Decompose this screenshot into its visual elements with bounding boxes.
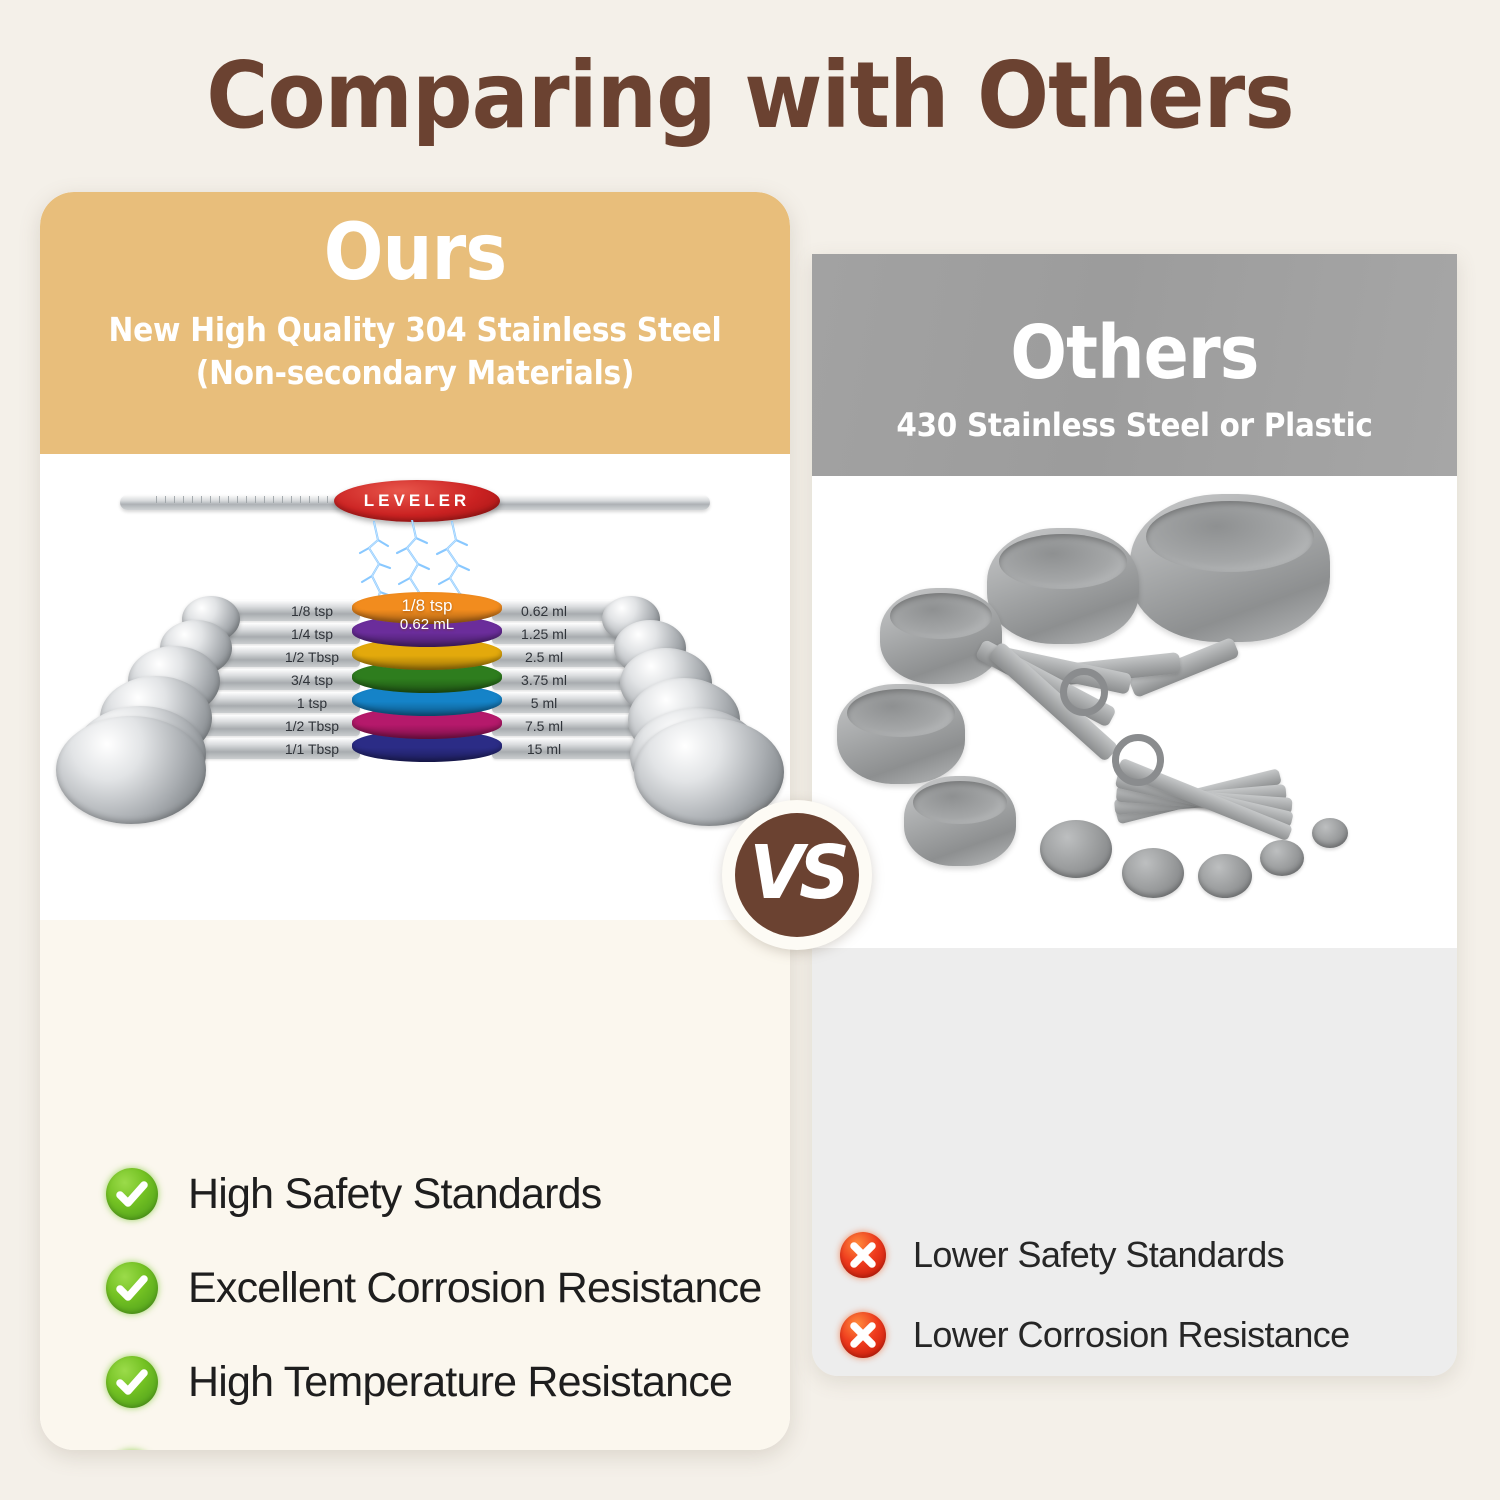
others-subtitle: 430 Stainless Steel or Plastic <box>838 406 1431 444</box>
page-title: Comparing with Others <box>60 42 1440 149</box>
gray-cup-tiny <box>904 776 1016 866</box>
spoon-bowl-5 <box>1312 818 1348 848</box>
cup-rim <box>999 534 1127 590</box>
check-circle-icon <box>106 1356 158 1408</box>
others-feature-list: Lower Safety StandardsLower Corrosion Re… <box>812 948 1457 1376</box>
list-item: Lower Safety Standards <box>840 1232 1284 1278</box>
x-circle-icon <box>840 1232 886 1278</box>
list-item-label: Lower Safety Standards <box>913 1234 1284 1276</box>
others-panel: Others 430 Stainless Steel or Plastic Lo… <box>812 254 1457 1376</box>
ours-subtitle-line2: (Non-secondary Materials) <box>78 351 753 395</box>
ours-subtitle-line1: New High Quality 304 Stainless Steel <box>78 308 753 352</box>
list-item-label: Lower Corrosion Resistance <box>913 1314 1350 1356</box>
list-item: Excellent Corrosion Resistance <box>106 1262 762 1314</box>
cup-rim <box>913 781 1007 824</box>
ours-heading: Ours <box>78 214 753 294</box>
vs-label: VS <box>749 830 845 916</box>
list-item: High Temperature Resistance <box>106 1356 732 1408</box>
others-header: Others 430 Stainless Steel or Plastic <box>812 254 1457 476</box>
check-circle-icon <box>106 1262 158 1314</box>
cup-ring-icon <box>1060 668 1108 716</box>
ours-feature-list: High Safety StandardsExcellent Corrosion… <box>40 920 790 1450</box>
check-circle-icon <box>106 1168 158 1220</box>
gray-cup-small <box>880 588 1002 684</box>
list-item-label: High Safety Standards <box>188 1170 601 1219</box>
spoon-ring-icon <box>1112 734 1164 786</box>
gray-cup-large <box>1130 494 1330 642</box>
cup-rim <box>847 689 955 737</box>
gray-cup-medium <box>987 528 1139 644</box>
list-item: Lower Corrosion Resistance <box>840 1312 1350 1358</box>
list-item-label: High Temperature Resistance <box>188 1358 732 1407</box>
x-circle-icon <box>840 1312 886 1358</box>
others-heading: Others <box>844 316 1425 390</box>
vs-circle: VS <box>735 813 859 937</box>
ours-header: Ours New High Quality 304 Stainless Stee… <box>40 192 790 454</box>
vs-badge: VS <box>722 800 872 950</box>
list-item: High Safety Standards <box>106 1168 601 1220</box>
ours-product-image <box>40 454 790 920</box>
ours-subtitle: New High Quality 304 Stainless Steel (No… <box>40 308 790 395</box>
cup-rim <box>890 593 992 639</box>
ours-panel: Ours New High Quality 304 Stainless Stee… <box>40 192 790 1450</box>
list-item-label: Excellent Corrosion Resistance <box>188 1264 762 1313</box>
others-product-image <box>812 476 1457 948</box>
spoon-bowl-4 <box>1260 840 1304 876</box>
cup-rim <box>1146 501 1314 572</box>
gray-cup-xsmall <box>837 684 965 784</box>
spoon-bowl-2 <box>1122 848 1184 898</box>
spoon-bowl-1 <box>1040 820 1112 878</box>
spoon-bowl-3 <box>1198 854 1252 898</box>
